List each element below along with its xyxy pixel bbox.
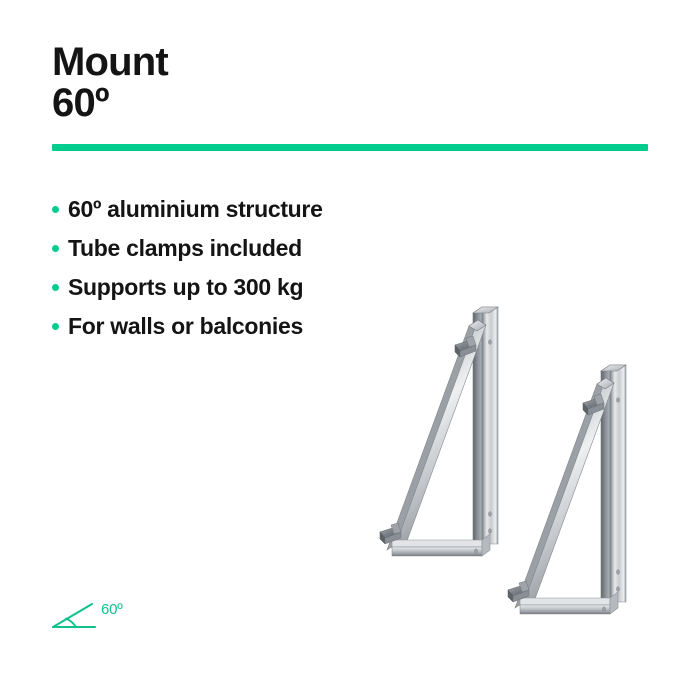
product-image (360, 280, 660, 630)
bullet-dot-icon (52, 323, 59, 330)
accent-divider (52, 144, 648, 151)
feature-label: 60º aluminium structure (68, 196, 323, 223)
page-title: Mount 60º (52, 42, 472, 124)
angle-badge-label: 60º (101, 601, 123, 618)
bracket-right (508, 365, 626, 614)
list-item: 60º aluminium structure (52, 190, 522, 229)
angle-badge: 60º (50, 598, 123, 637)
feature-label: Supports up to 300 kg (68, 274, 303, 301)
bracket-pair-illustration (360, 280, 660, 630)
product-feature-card: Mount 60º 60º aluminium structure Tube c… (0, 0, 700, 700)
title-line-1: Mount (52, 42, 472, 83)
bracket-left (380, 307, 498, 556)
title-line-2: 60º (52, 83, 472, 124)
bullet-dot-icon (52, 206, 59, 213)
angle-60-icon (50, 598, 98, 637)
bullet-dot-icon (52, 284, 59, 291)
bullet-dot-icon (52, 245, 59, 252)
feature-label: Tube clamps included (68, 235, 302, 262)
list-item: Tube clamps included (52, 229, 522, 268)
feature-label: For walls or balconies (68, 313, 303, 340)
